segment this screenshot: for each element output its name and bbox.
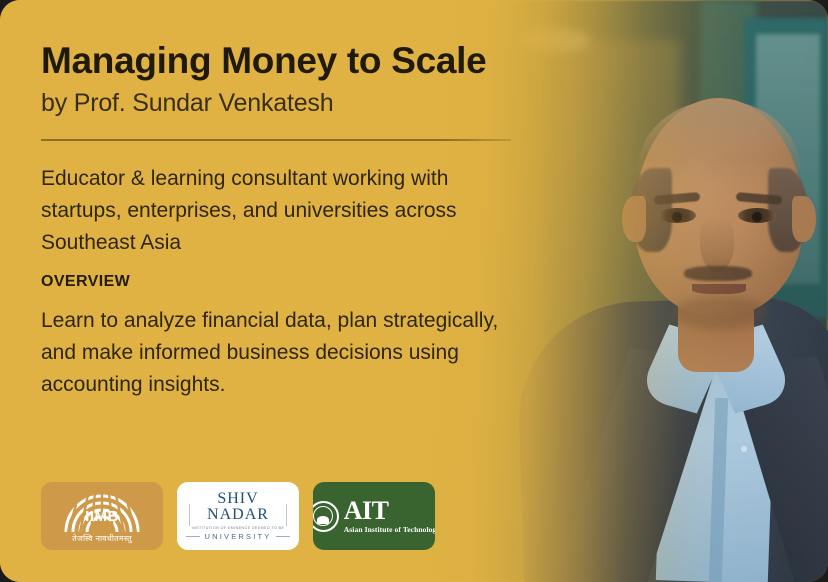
- snu-university-label: UNIVERSITY: [204, 532, 271, 541]
- logo-iimb[interactable]: IIMB तेजस्वि नावधीतमस्तु: [41, 482, 163, 550]
- bio-text: Educator & learning consultant working w…: [41, 163, 533, 259]
- iimb-motto: तेजस्वि नावधीतमस्तु: [72, 533, 132, 544]
- snu-tagline: INSTITUTION OF EMINENCE DEEMED TO BE: [185, 526, 291, 530]
- overview-label: OVERVIEW: [41, 273, 828, 291]
- snu-divider-left: [186, 536, 200, 537]
- iimb-wordmark: IIMB: [85, 508, 119, 525]
- divider: [41, 139, 511, 141]
- ait-seal-icon: [313, 501, 339, 532]
- byline: by Prof. Sundar Venkatesh: [41, 89, 828, 118]
- ait-wordmark: AIT: [344, 498, 435, 524]
- institution-logos: IIMB तेजस्वि नावधीतमस्तु SHIV NADAR INST…: [41, 482, 435, 550]
- speaker-promo-card: Managing Money to Scale by Prof. Sundar …: [0, 0, 828, 582]
- snu-divider-right: [276, 536, 290, 537]
- ait-fullname: Asian Institute of Technology: [344, 526, 435, 534]
- logo-ait[interactable]: AIT Asian Institute of Technology: [313, 482, 435, 550]
- snu-rule-right: [286, 504, 287, 526]
- snu-rule-left: [189, 504, 190, 526]
- snu-wordmark: SHIV NADAR: [185, 491, 291, 523]
- page-title: Managing Money to Scale: [41, 40, 828, 81]
- logo-shiv-nadar[interactable]: SHIV NADAR INSTITUTION OF EMINENCE DEEME…: [177, 482, 299, 550]
- overview-text: Learn to analyze financial data, plan st…: [41, 305, 527, 401]
